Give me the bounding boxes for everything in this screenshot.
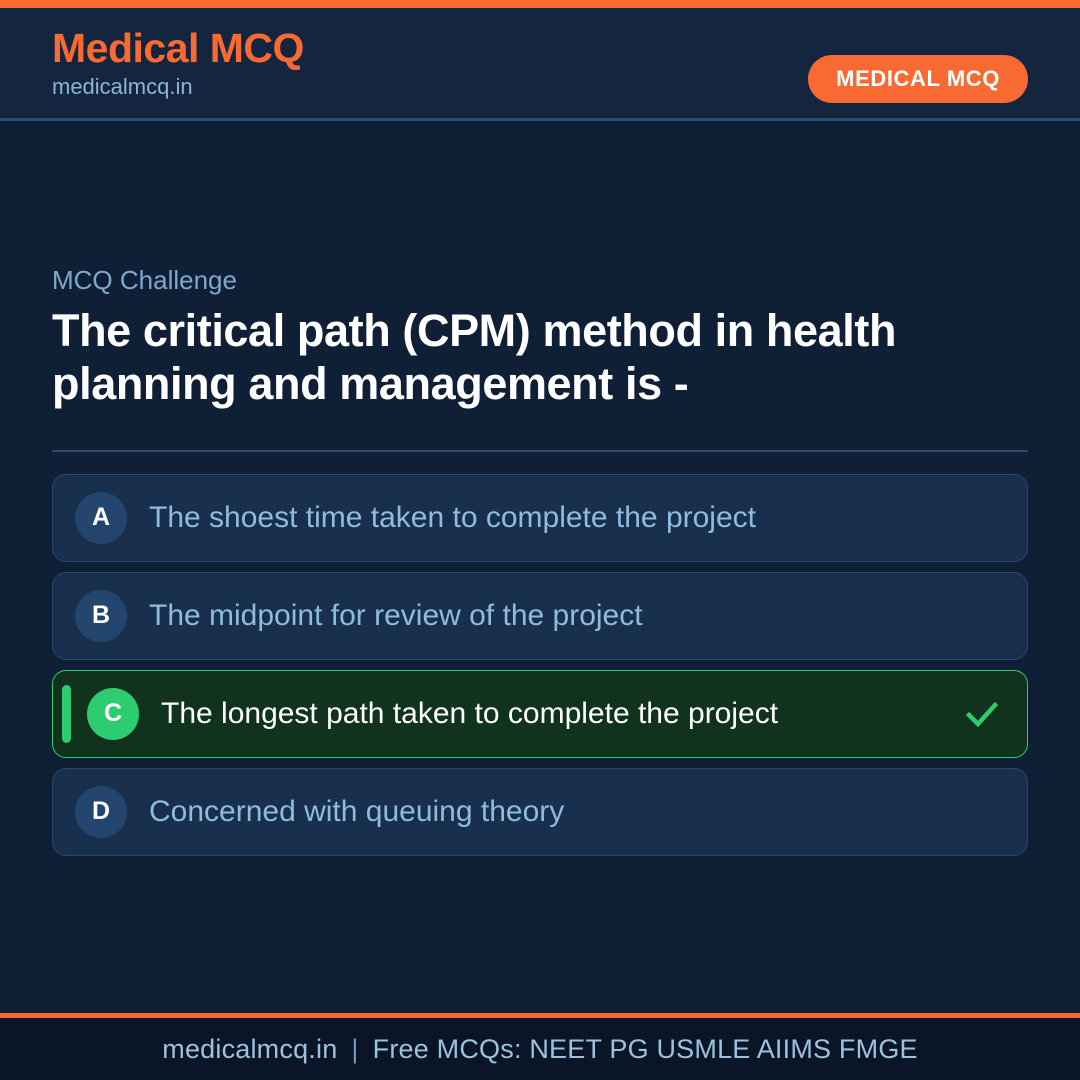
option-row-c[interactable]: C The longest path taken to complete the… — [52, 670, 1028, 758]
brand-block: Medical MCQ medicalmcq.in — [52, 27, 304, 99]
check-icon — [961, 693, 1003, 735]
correct-accent-bar — [62, 685, 71, 743]
top-accent-bar — [0, 0, 1080, 8]
brand-subtitle: medicalmcq.in — [52, 75, 304, 99]
eyebrow-label: MCQ Challenge — [52, 266, 1028, 295]
header: Medical MCQ medicalmcq.in MEDICAL MCQ — [0, 8, 1080, 121]
main-content: MCQ Challenge The critical path (CPM) me… — [0, 121, 1080, 1013]
option-text-c: The longest path taken to complete the p… — [161, 697, 955, 731]
option-row-b[interactable]: B The midpoint for review of the project — [52, 572, 1028, 660]
option-row-d[interactable]: D Concerned with queuing theory — [52, 768, 1028, 856]
brand-title: Medical MCQ — [52, 27, 304, 70]
option-letter-a: A — [75, 492, 127, 544]
question-text: The critical path (CPM) method in health… — [52, 304, 1027, 410]
footer-separator: | — [351, 1034, 358, 1065]
option-letter-c: C — [87, 688, 139, 740]
option-text-d: Concerned with queuing theory — [149, 795, 1003, 829]
footer-text: medicalmcq.in | Free MCQs: NEET PG USMLE… — [162, 1034, 917, 1065]
footer: medicalmcq.in | Free MCQs: NEET PG USMLE… — [0, 1013, 1080, 1080]
option-row-a[interactable]: A The shoest time taken to complete the … — [52, 474, 1028, 562]
option-text-b: The midpoint for review of the project — [149, 599, 1003, 633]
mcq-card: Medical MCQ medicalmcq.in MEDICAL MCQ MC… — [0, 0, 1080, 1080]
top-spacer — [52, 121, 1028, 266]
footer-site: medicalmcq.in — [162, 1034, 337, 1065]
header-badge: MEDICAL MCQ — [808, 55, 1028, 103]
options-list: A The shoest time taken to complete the … — [52, 474, 1028, 856]
option-letter-b: B — [75, 590, 127, 642]
question-divider — [52, 450, 1028, 452]
footer-exams: Free MCQs: NEET PG USMLE AIIMS FMGE — [373, 1034, 918, 1065]
option-letter-d: D — [75, 786, 127, 838]
option-text-a: The shoest time taken to complete the pr… — [149, 501, 1003, 535]
